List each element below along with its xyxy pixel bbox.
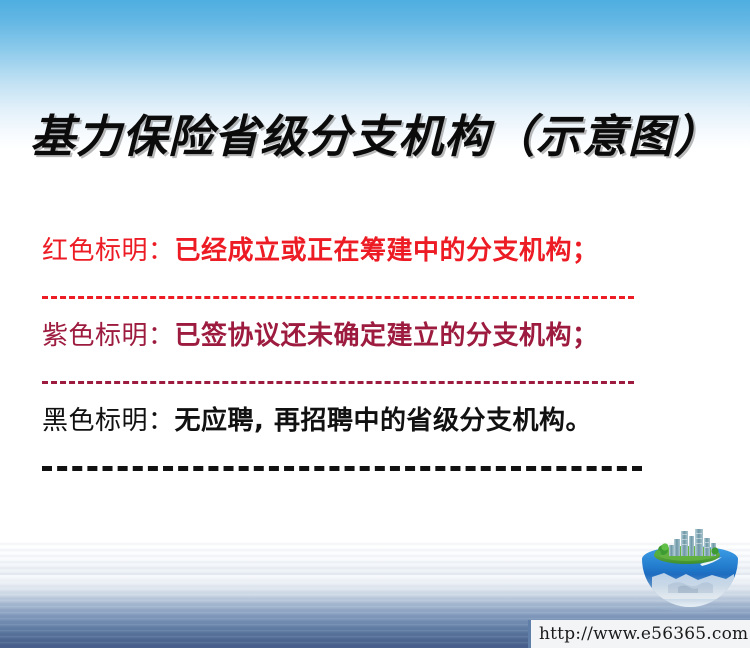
legend-text-black: 黑色标明：无应聘, 再招聘中的省级分支机构。 [42,404,708,438]
legend-row-red: 红色标明：已经成立或正在筹建中的分支机构； [42,234,708,319]
legend-row-black: 黑色标明：无应聘, 再招聘中的省级分支机构。 [42,404,708,489]
slide-canvas: 基力保险省级分支机构（示意图） 红色标明：已经成立或正在筹建中的分支机构； 紫色… [0,0,750,648]
legend-lead-purple: 紫色标明： [42,321,175,351]
legend-divider-purple [42,381,634,384]
legend-body-purple: 已签协议还未确定建立的分支机构； [175,321,599,351]
watermark-url: http://www.e56365.com [539,624,748,644]
legend-lead-black: 黑色标明： [42,406,175,436]
legend-divider-black [42,466,642,471]
legend-text-red: 红色标明：已经成立或正在筹建中的分支机构； [42,234,708,268]
watermark-bar: http://www.e56365.com [528,620,750,648]
legend-text-purple: 紫色标明：已签协议还未确定建立的分支机构； [42,319,708,353]
legend-row-purple: 紫色标明：已签协议还未确定建立的分支机构； [42,319,708,404]
slide-title: 基力保险省级分支机构（示意图） [0,100,750,165]
legend-divider-red [42,296,634,299]
globe-city-logo-icon [634,527,746,613]
legend-block: 红色标明：已经成立或正在筹建中的分支机构； 紫色标明：已签协议还未确定建立的分支… [42,234,708,489]
legend-body-black: 无应聘, 再招聘中的省级分支机构。 [175,406,592,436]
legend-body-red: 已经成立或正在筹建中的分支机构； [175,236,599,266]
legend-lead-red: 红色标明： [42,236,175,266]
